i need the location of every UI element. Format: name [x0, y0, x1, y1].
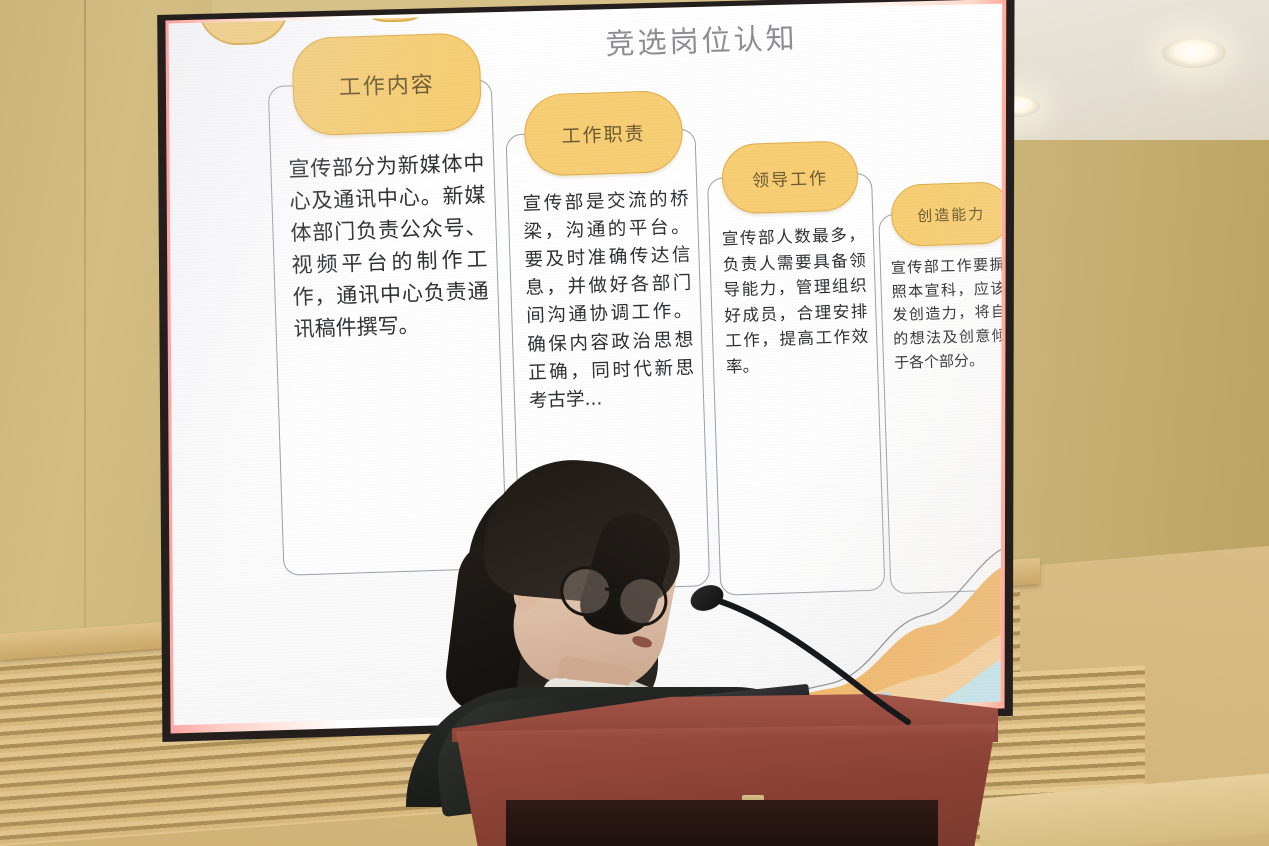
card-body-1: 宣传部分为新媒体中心及通讯中心。新媒体部门负责公众号、视频平台的制作工作，通讯中…	[288, 148, 490, 346]
card-body-4: 宣传部工作要摒弃照本宣科，应该迸发创造力，将自身的想法及创意倾注于各个部分。	[891, 253, 1009, 376]
card-body-3: 宣传部人数最多，负责人需要具备领导能力，管理组织好成员，合理安排工作，提高工作效…	[722, 222, 870, 380]
card-badge-3: 领导工作	[721, 140, 859, 214]
slide-title: 竞选岗位认知	[605, 11, 936, 64]
card-badge-1: 工作内容	[291, 32, 482, 136]
auditorium-scene: 竞选岗位认知 工作内容 宣传部分为新媒体中心及通讯中心。新媒体部门负责公众号、视…	[0, 0, 1269, 846]
card-badge-4: 创造能力	[890, 181, 1009, 247]
downlight-1-icon	[1162, 38, 1226, 68]
podium-base	[506, 800, 938, 846]
card-body-2: 宣传部是交流的桥梁，沟通的平台。要及时准确传达信息，并做好各部门间沟通协调工作。…	[522, 186, 695, 416]
card-badge-2: 工作职责	[523, 90, 684, 177]
